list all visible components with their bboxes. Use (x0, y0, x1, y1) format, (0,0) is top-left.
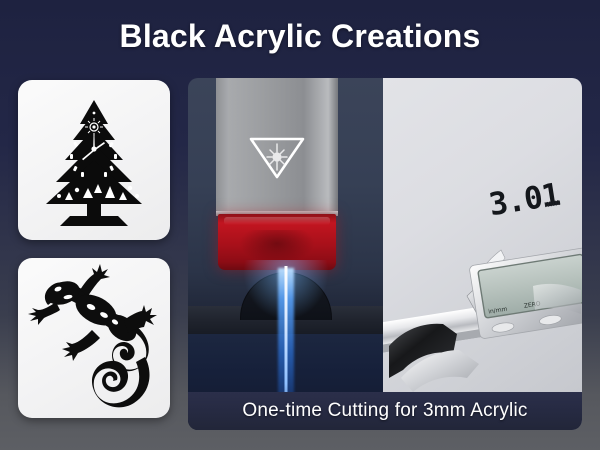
christmas-tree-clock-icon (18, 80, 170, 240)
laser-hazard-icon (248, 134, 306, 180)
title-bar: Black Acrylic Creations (0, 0, 600, 72)
caption-text: One-time Cutting for 3mm Acrylic (242, 400, 527, 422)
promo-banner: Black Acrylic Creations (0, 0, 600, 450)
page-title: Black Acrylic Creations (120, 18, 481, 55)
caliper-measurement-panel: in/mm ZERO 3.01 mm (383, 78, 582, 430)
product-card-gecko-silhouette[interactable] (18, 258, 170, 418)
digital-caliper-icon: in/mm ZERO (383, 78, 582, 430)
caption-bar: One-time Cutting for 3mm Acrylic (188, 392, 582, 430)
gecko-silhouette-icon (18, 258, 170, 418)
laser-module (216, 78, 338, 213)
product-card-christmas-tree-clock[interactable] (18, 80, 170, 240)
laser-cutting-panel (188, 78, 383, 430)
